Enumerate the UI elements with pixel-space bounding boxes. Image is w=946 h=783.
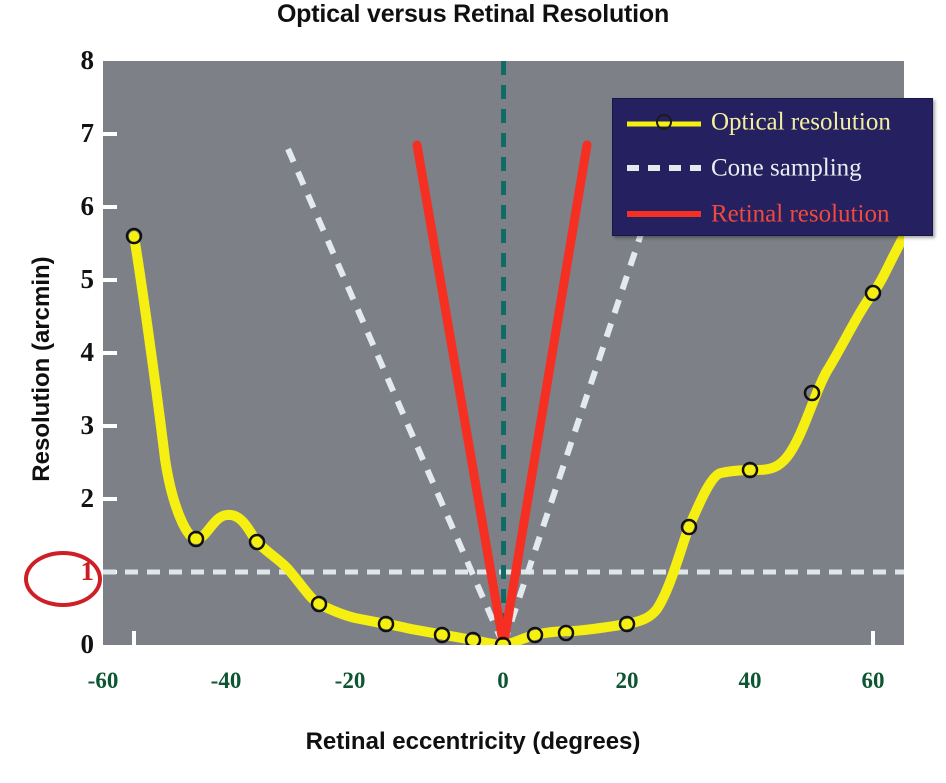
y-axis-title: Resolution (arcmin) bbox=[28, 159, 56, 579]
x-tick-label--60: -60 bbox=[63, 669, 143, 692]
legend-label-cone-sampling: Cone sampling bbox=[711, 156, 862, 181]
page-title: Optical versus Retinal Resolution bbox=[0, 0, 946, 29]
legend-item-retinal-resolution: Retinal resolution bbox=[613, 191, 934, 237]
y-axis-tick-marks bbox=[103, 134, 117, 572]
retinal-resolution-line-icon bbox=[625, 203, 703, 225]
optical-resolution-line-icon bbox=[625, 111, 703, 133]
x-tick-label-0: 0 bbox=[463, 669, 543, 692]
legend-label-optical-resolution: Optical resolution bbox=[711, 110, 891, 135]
y-tick-label-3: 3 bbox=[48, 412, 94, 439]
x-tick-label-20: 20 bbox=[587, 669, 667, 692]
cone-sampling-line-icon bbox=[625, 157, 703, 179]
legend: Optical resolution Cone sampling Retinal… bbox=[612, 98, 933, 236]
series-optical-resolution-line bbox=[134, 236, 904, 645]
x-axis-title: Retinal eccentricity (degrees) bbox=[0, 728, 946, 756]
y-tick-label-5: 5 bbox=[48, 266, 94, 293]
x-tick-label--20: -20 bbox=[310, 669, 390, 692]
y-tick-label-8: 8 bbox=[48, 47, 94, 74]
legend-item-cone-sampling: Cone sampling bbox=[613, 145, 934, 191]
figure-root: Optical versus Retinal Resolution Resolu… bbox=[0, 0, 946, 783]
legend-item-optical-resolution: Optical resolution bbox=[613, 99, 934, 145]
x-tick-label-60: 60 bbox=[833, 669, 913, 692]
y-tick-label-4: 4 bbox=[48, 339, 94, 366]
y-tick-highlight-ring bbox=[24, 551, 102, 607]
series-optical-resolution-markers bbox=[127, 229, 880, 645]
y-tick-label-6: 6 bbox=[48, 193, 94, 220]
x-tick-label-40: 40 bbox=[710, 669, 790, 692]
y-tick-label-2: 2 bbox=[48, 485, 94, 512]
x-tick-label--40: -40 bbox=[186, 669, 266, 692]
y-tick-label-7: 7 bbox=[48, 120, 94, 147]
legend-label-retinal-resolution: Retinal resolution bbox=[711, 202, 889, 227]
y-tick-label-0: 0 bbox=[48, 631, 94, 658]
